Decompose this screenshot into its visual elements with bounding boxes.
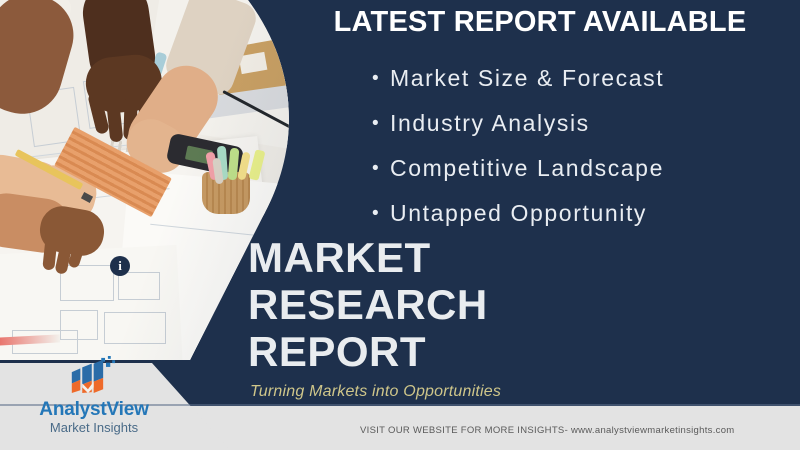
bullet-dot-icon: • (372, 114, 390, 133)
bullet-dot-icon: • (372, 204, 390, 223)
logo-name: AnalystView (18, 400, 170, 420)
title-line-3: REPORT (248, 328, 488, 375)
title-line-1: MARKET (248, 234, 488, 281)
tagline: Turning Markets into Opportunities (250, 383, 501, 401)
marketing-banner: i LATEST REPORT AVAILABLE • Market Size … (0, 0, 800, 450)
list-item-label: Untapped Opportunity (390, 200, 647, 227)
list-item-label: Industry Analysis (390, 110, 590, 137)
website-note: VISIT OUR WEBSITE FOR MORE INSIGHTS- www… (360, 425, 735, 436)
list-item-label: Competitive Landscape (390, 155, 664, 182)
bullet-dot-icon: • (372, 159, 390, 178)
info-icon: i (110, 256, 130, 276)
headline: LATEST REPORT AVAILABLE (290, 6, 790, 39)
page-title: MARKET RESEARCH REPORT (248, 234, 488, 375)
logo-subtitle: Market Insights (18, 420, 170, 436)
feature-bullet-list: • Market Size & Forecast • Industry Anal… (372, 56, 772, 236)
list-item: • Untapped Opportunity (372, 191, 772, 236)
bullet-dot-icon: • (372, 69, 390, 88)
list-item: • Industry Analysis (372, 101, 772, 146)
list-item: • Market Size & Forecast (372, 56, 772, 101)
brand-logo[interactable]: AnalystView Market Insights (18, 356, 170, 436)
bar-chart-logo-icon (68, 356, 120, 394)
list-item: • Competitive Landscape (372, 146, 772, 191)
list-item-label: Market Size & Forecast (390, 65, 664, 92)
title-line-2: RESEARCH (248, 281, 488, 328)
